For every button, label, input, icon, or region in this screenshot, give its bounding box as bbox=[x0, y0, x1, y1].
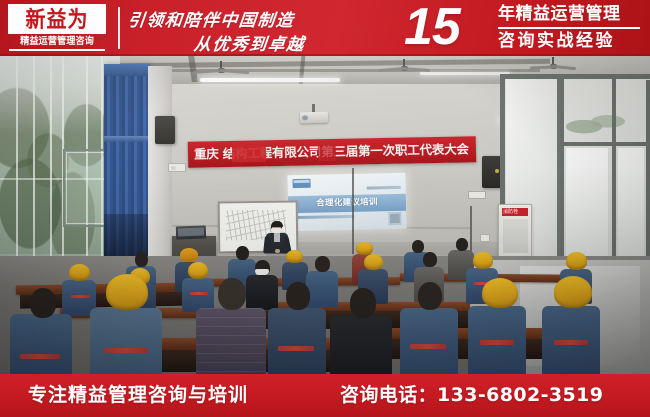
person-head bbox=[135, 252, 148, 267]
hard-hat bbox=[106, 274, 148, 310]
glass-reflection bbox=[0, 56, 120, 134]
uniform-back-print bbox=[20, 354, 60, 359]
person-head bbox=[350, 288, 376, 318]
logo-box: 新益为 bbox=[8, 4, 106, 34]
hard-hat bbox=[473, 252, 493, 269]
years-line-2: 咨询实战经验 bbox=[498, 31, 615, 52]
ceiling-fan-icon bbox=[530, 57, 576, 71]
ceiling-fan-icon bbox=[378, 59, 430, 75]
fan-blade bbox=[193, 69, 221, 74]
glass-curtain-wall bbox=[0, 56, 120, 256]
face-mask-icon bbox=[255, 269, 269, 275]
fan-blade bbox=[530, 65, 553, 69]
hard-hat bbox=[188, 262, 208, 279]
ceiling-fan-icon bbox=[193, 61, 249, 77]
uniform-back-print bbox=[554, 340, 588, 345]
person-torso bbox=[542, 306, 600, 374]
uniform-back-print bbox=[410, 344, 446, 349]
person-head bbox=[315, 256, 330, 272]
fire-cabinet-glass bbox=[503, 219, 528, 253]
fan-blade bbox=[403, 67, 430, 72]
hard-hat bbox=[69, 264, 90, 281]
years-line-1: 年精益运营管理 bbox=[498, 4, 621, 24]
logo-sub-text: 精益运营管理咨询 bbox=[9, 35, 104, 48]
audience-member-foreground bbox=[196, 278, 266, 374]
person-head bbox=[456, 238, 468, 251]
person-torso bbox=[196, 308, 266, 374]
slide-logo-highlight bbox=[294, 180, 310, 183]
hard-hat bbox=[286, 250, 303, 263]
hard-hat bbox=[180, 248, 198, 262]
person-torso bbox=[400, 308, 458, 374]
person-torso bbox=[268, 308, 326, 374]
wall-speaker bbox=[155, 116, 175, 144]
projection-screen: 合理化建议培训 bbox=[287, 173, 406, 231]
fan-blade bbox=[378, 67, 404, 72]
hard-hat bbox=[566, 252, 587, 270]
slide-header-text bbox=[367, 186, 401, 190]
footer-tagline: 专注精益管理咨询与培训 bbox=[28, 383, 248, 408]
fluorescent-light bbox=[200, 78, 340, 82]
promotional-banner-image: 新益为 精益运营管理咨询 引领和陪伴中国制造 从优秀到卓越 15 年精益运营管理… bbox=[0, 0, 650, 417]
logo-main-text: 新益为 bbox=[26, 8, 89, 30]
banner-text-redaction bbox=[232, 142, 266, 163]
years-number: 15 bbox=[404, 0, 460, 55]
emergency-light bbox=[168, 163, 186, 172]
person-head bbox=[218, 278, 246, 310]
fan-blade bbox=[220, 69, 249, 75]
header-banner: 新益为 精益运营管理咨询 引领和陪伴中国制造 从优秀到卓越 15 年精益运营管理… bbox=[0, 0, 650, 56]
curtain-tieback bbox=[104, 136, 150, 142]
face-mask-icon bbox=[271, 228, 282, 234]
frosted-glass-panel bbox=[618, 148, 644, 268]
person-head bbox=[286, 282, 310, 310]
uniform-back-print bbox=[104, 348, 148, 353]
audience-member-foreground bbox=[90, 274, 162, 374]
window-frame-inner bbox=[66, 152, 105, 224]
fire-cabinet-label-text: 消防栓 bbox=[503, 208, 518, 216]
person-torso bbox=[468, 306, 526, 374]
uniform-back-print bbox=[278, 346, 314, 351]
partition-frame bbox=[646, 80, 650, 274]
qr-code-icon bbox=[388, 212, 401, 225]
footer-banner: 专注精益管理咨询与培训 咨询电话：133-6802-3519 bbox=[0, 374, 650, 417]
slide-subtitle-text bbox=[294, 215, 354, 219]
partition-frame bbox=[560, 142, 650, 146]
audience-member-foreground bbox=[400, 282, 458, 374]
experience-block: 15 年精益运营管理 咨询实战经验 bbox=[398, 0, 644, 56]
hard-hat bbox=[482, 278, 518, 308]
footer-phone[interactable]: 咨询电话：133-6802-3519 bbox=[340, 383, 603, 408]
audience-member-foreground bbox=[10, 288, 72, 374]
training-classroom-photo: 重庆 结构工程有限公司第三届第一次职工代表大会 合理化建议培训 bbox=[0, 56, 650, 374]
partition-frame bbox=[560, 76, 564, 274]
company-logo: 新益为 精益运营管理咨询 bbox=[8, 4, 106, 52]
slide-title: 合理化建议培训 bbox=[288, 194, 406, 213]
uniform-back-print bbox=[480, 340, 514, 345]
fire-cabinet-label: 消防栓 bbox=[502, 208, 528, 216]
slogan-line-2: 从优秀到卓越 bbox=[193, 30, 307, 55]
partition-frame bbox=[500, 74, 650, 79]
quilted-jacket-texture bbox=[196, 308, 266, 374]
partition-frame bbox=[612, 78, 616, 274]
person-head bbox=[236, 246, 249, 260]
curtain-header bbox=[104, 64, 150, 76]
hard-hat bbox=[554, 276, 592, 308]
years-divider-rule bbox=[498, 27, 640, 29]
audience-member-foreground bbox=[468, 278, 526, 374]
person-torso bbox=[10, 314, 72, 374]
audience-member-foreground bbox=[330, 288, 392, 374]
header-divider bbox=[118, 7, 120, 49]
presenter-hair bbox=[271, 221, 283, 227]
person-head bbox=[418, 282, 442, 310]
audience-member-foreground bbox=[268, 282, 326, 374]
banner-text-redaction bbox=[318, 145, 336, 161]
presenter-shirt bbox=[274, 233, 280, 242]
presenter-hand bbox=[275, 249, 280, 253]
person-torso bbox=[90, 308, 162, 374]
laptop bbox=[176, 225, 206, 239]
uniform-back-print bbox=[71, 295, 90, 298]
emergency-light bbox=[468, 191, 486, 199]
wall-speaker bbox=[482, 156, 502, 188]
logo-underline bbox=[9, 49, 105, 51]
hard-hat bbox=[364, 254, 383, 270]
person-torso bbox=[330, 316, 392, 374]
blue-curtain bbox=[104, 64, 150, 260]
fluorescent-light-2 bbox=[420, 72, 510, 75]
power-socket bbox=[480, 234, 490, 242]
ceiling-projector bbox=[300, 112, 328, 124]
person-head bbox=[30, 288, 56, 318]
audience-member-foreground bbox=[542, 276, 600, 374]
frosted-glass-panel bbox=[566, 148, 608, 268]
person-head bbox=[423, 252, 437, 267]
slogan-line-1: 引领和陪伴中国制造 bbox=[127, 6, 296, 31]
slogan-block: 引领和陪伴中国制造 从优秀到卓越 bbox=[128, 3, 378, 53]
indoor-plant bbox=[566, 111, 626, 137]
fan-blade bbox=[552, 65, 576, 70]
